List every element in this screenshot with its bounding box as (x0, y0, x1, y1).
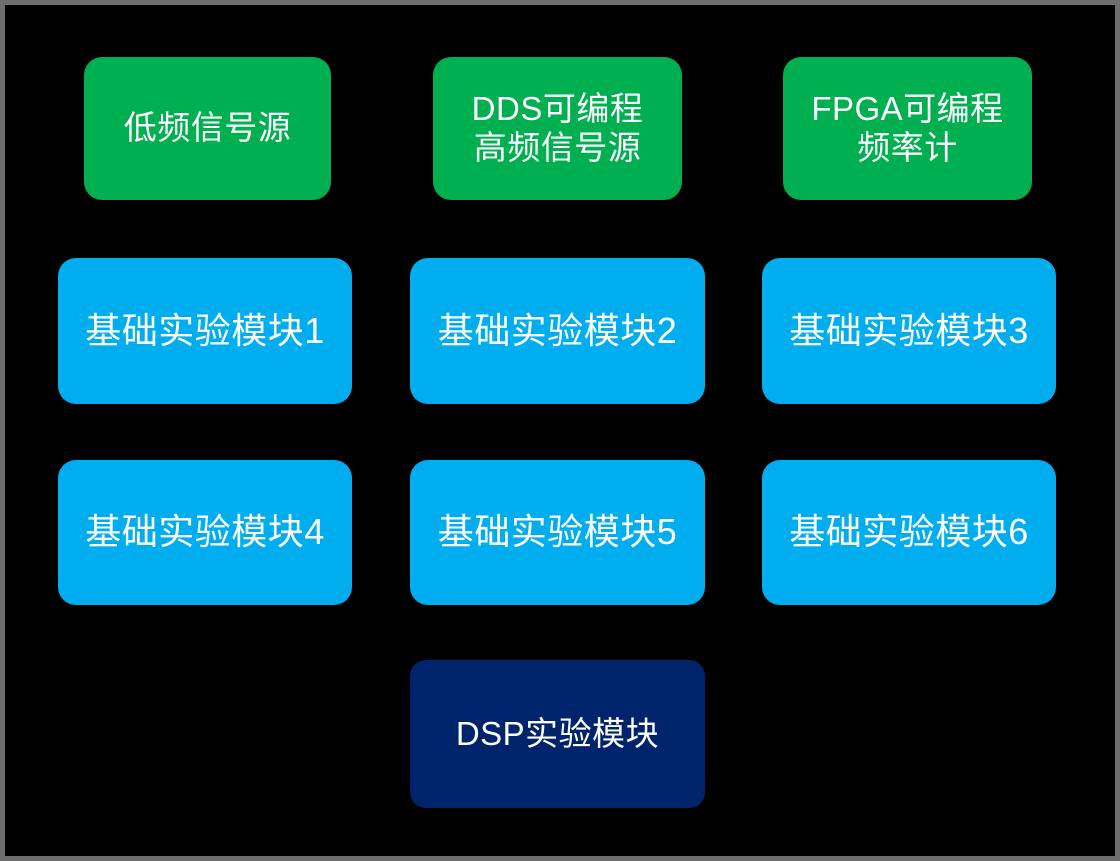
node-label: 基础实验模块1 (58, 310, 352, 352)
node-label: 基础实验模块3 (762, 310, 1056, 352)
diagram-canvas: 低频信号源 DDS可编程 高频信号源 FPGA可编程 频率计 基础实验模块1 基… (0, 0, 1120, 861)
node-label: 低频信号源 (84, 109, 331, 148)
node-dsp-module[interactable]: DSP实验模块 (410, 660, 705, 808)
node-label: DSP实验模块 (410, 715, 705, 754)
node-label: 基础实验模块4 (58, 511, 352, 553)
node-low-freq-source[interactable]: 低频信号源 (84, 57, 331, 200)
node-basic-module-4[interactable]: 基础实验模块4 (58, 460, 352, 605)
node-dds-hf-source[interactable]: DDS可编程 高频信号源 (433, 57, 682, 200)
node-label: 基础实验模块2 (410, 310, 705, 352)
node-basic-module-6[interactable]: 基础实验模块6 (762, 460, 1056, 605)
node-label: DDS可编程 高频信号源 (433, 90, 682, 168)
node-basic-module-2[interactable]: 基础实验模块2 (410, 258, 705, 404)
node-basic-module-5[interactable]: 基础实验模块5 (410, 460, 705, 605)
node-label: 基础实验模块6 (762, 511, 1056, 553)
node-label: 基础实验模块5 (410, 511, 705, 553)
node-basic-module-3[interactable]: 基础实验模块3 (762, 258, 1056, 404)
node-label: FPGA可编程 频率计 (783, 90, 1032, 168)
node-fpga-freq-counter[interactable]: FPGA可编程 频率计 (783, 57, 1032, 200)
node-basic-module-1[interactable]: 基础实验模块1 (58, 258, 352, 404)
